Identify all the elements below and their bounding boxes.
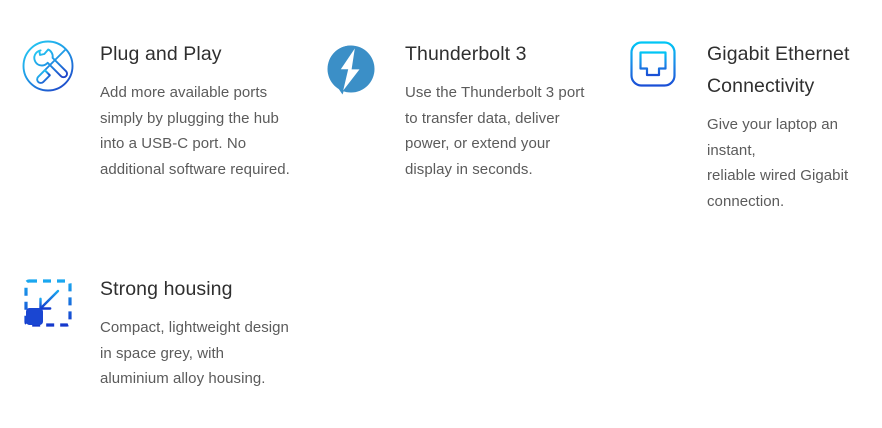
feature-title: Thunderbolt 3 [405,38,615,70]
feature-card-gigabit-ethernet: Gigabit Ethernet Connectivity Give your … [627,38,882,214]
feature-description: Compact, lightweight design in space gre… [100,315,310,392]
compact-size-arrow-icon [20,273,78,331]
feature-text-block: Thunderbolt 3 Use the Thunderbolt 3 port… [383,38,615,182]
feature-text-block: Plug and Play Add more available ports s… [78,38,310,182]
ethernet-rj45-port-icon [627,38,685,96]
thunderbolt-bolt-icon [325,38,383,96]
feature-title: Strong housing [100,273,310,305]
feature-card-thunderbolt-3: Thunderbolt 3 Use the Thunderbolt 3 port… [325,38,615,182]
plug-and-play-tools-icon [20,38,78,96]
features-grid: Plug and Play Add more available ports s… [0,0,882,428]
feature-title: Plug and Play [100,38,310,70]
feature-text-block: Strong housing Compact, lightweight desi… [78,273,310,392]
feature-description: Add more available ports simply by plugg… [100,80,310,182]
feature-description: Give your laptop an instant, reliable wi… [707,112,882,214]
feature-description: Use the Thunderbolt 3 port to transfer d… [405,80,615,182]
feature-title: Gigabit Ethernet Connectivity [707,38,882,102]
feature-card-plug-and-play: Plug and Play Add more available ports s… [20,38,310,182]
feature-card-strong-housing: Strong housing Compact, lightweight desi… [20,273,310,392]
feature-text-block: Gigabit Ethernet Connectivity Give your … [685,38,882,214]
